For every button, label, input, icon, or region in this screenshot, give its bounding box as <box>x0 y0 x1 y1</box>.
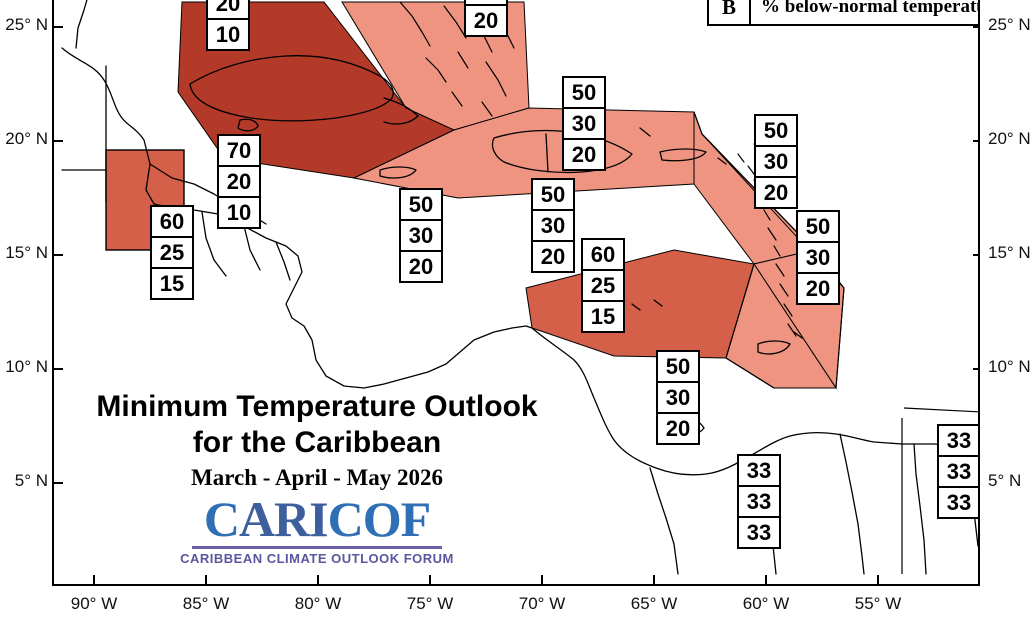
prob-box-suriname-guianas: 33 33 33 <box>937 424 980 519</box>
prob-normal: 20 <box>208 0 248 20</box>
x-tick-label: 80° W <box>295 594 341 614</box>
page-title: Minimum Temperature Outlook <box>82 389 552 425</box>
y-tick-label: 5° N <box>988 471 1021 491</box>
prob-below: 10 <box>208 20 248 49</box>
prob-above: 50 <box>564 78 604 109</box>
prob-above: 50 <box>401 190 441 221</box>
prob-normal: 30 <box>658 383 698 414</box>
prob-below: 10 <box>219 198 259 227</box>
prob-below: 20 <box>756 178 796 207</box>
prob-box-jamaica-cayman: 50 30 20 <box>399 188 443 283</box>
prob-below: 20 <box>798 274 838 303</box>
logo-cof: COF <box>328 491 431 547</box>
climate-outlook-map: 70 20 10 50 30 20 70 20 10 50 30 20 50 3… <box>0 0 1036 630</box>
logo-subtitle: CARIBBEAN CLIMATE OUTLOOK FORUM <box>82 551 552 566</box>
logo-c: C <box>204 491 239 547</box>
prob-below: 15 <box>583 302 623 331</box>
title-block: Minimum Temperature Outlook for the Cari… <box>82 389 552 566</box>
logo-ari: ARI <box>239 491 328 547</box>
prob-above: 33 <box>939 426 979 457</box>
y-tick-label: 10° N <box>988 357 1031 377</box>
y-tick-label: 25° N <box>5 15 48 35</box>
y-tick-label: 15° N <box>5 243 48 263</box>
prob-box-western-cuba-north: 70 20 10 <box>206 0 250 51</box>
prob-box-puerto-rico-leewards: 50 30 20 <box>754 114 798 209</box>
map-plot-area: 70 20 10 50 30 20 70 20 10 50 30 20 50 3… <box>52 0 980 586</box>
prob-box-bahamas: 50 30 20 <box>464 0 508 37</box>
prob-normal: 30 <box>756 147 796 178</box>
prob-box-hispaniola-north: 50 30 20 <box>562 76 606 171</box>
prob-above: 50 <box>798 212 838 243</box>
prob-normal: 30 <box>401 221 441 252</box>
x-tick-label: 85° W <box>183 594 229 614</box>
prob-below: 20 <box>658 414 698 443</box>
prob-normal: 30 <box>798 243 838 274</box>
x-tick-label: 60° W <box>743 594 789 614</box>
prob-below: 20 <box>533 242 573 271</box>
prob-box-cuba: 70 20 10 <box>217 134 261 229</box>
y-tick-label: 25° N <box>988 15 1031 35</box>
x-tick-label: 75° W <box>407 594 453 614</box>
x-tick-label: 65° W <box>631 594 677 614</box>
legend-row-below: B % below-normal temperature <box>709 0 980 24</box>
y-tick-label: 20° N <box>988 129 1031 149</box>
prob-below: 20 <box>466 6 506 35</box>
prob-normal: 30 <box>564 109 604 140</box>
prob-normal: 33 <box>739 487 779 518</box>
prob-below: 33 <box>739 518 779 547</box>
legend: N % normal temperature B % below-normal … <box>707 0 980 26</box>
y-tick-label: 20° N <box>5 129 48 149</box>
forecast-period: March - April - May 2026 <box>82 465 552 491</box>
y-tick-label: 5° N <box>15 471 48 491</box>
prob-above: 50 <box>756 116 796 147</box>
page-title-line2: for the Caribbean <box>82 425 552 461</box>
prob-box-southwest-caribbean: 60 25 15 <box>581 238 625 333</box>
prob-box-hispaniola-south: 50 30 20 <box>531 178 575 273</box>
prob-box-windward-islands: 50 30 20 <box>796 210 840 305</box>
y-tick-label: 15° N <box>988 243 1031 263</box>
prob-above: 33 <box>739 456 779 487</box>
prob-above: 70 <box>219 136 259 167</box>
x-tick-label: 70° W <box>519 594 565 614</box>
prob-normal: 25 <box>152 238 192 269</box>
prob-normal: 30 <box>533 211 573 242</box>
y-axis-labels-left: 25° N 20° N 15° N 10° N 5° N <box>0 0 48 630</box>
legend-label-b: % below-normal temperature <box>751 0 980 24</box>
caricof-logo: CARICOF CARIBBEAN CLIMATE OUTLOOK FORUM <box>82 493 552 566</box>
prob-below: 20 <box>401 252 441 281</box>
x-tick-label: 90° W <box>71 594 117 614</box>
prob-box-trinidad-guyana-west: 33 33 33 <box>737 454 781 549</box>
prob-normal: 20 <box>219 167 259 198</box>
y-tick-label: 10° N <box>5 357 48 377</box>
prob-below: 33 <box>939 488 979 517</box>
prob-above: 50 <box>658 352 698 383</box>
prob-above: 60 <box>583 240 623 271</box>
caricof-logo-text: CARICOF <box>82 493 552 545</box>
prob-below: 15 <box>152 269 192 298</box>
prob-above: 50 <box>533 180 573 211</box>
prob-normal: 33 <box>939 457 979 488</box>
y-axis-labels-right: 25° N 20° N 15° N 10° N 5° N <box>988 0 1036 630</box>
legend-key-b: B <box>709 0 751 24</box>
prob-box-belize-honduras: 60 25 15 <box>150 205 194 300</box>
prob-above: 60 <box>152 207 192 238</box>
prob-box-venezuela-coast: 50 30 20 <box>656 350 700 445</box>
prob-below: 20 <box>564 140 604 169</box>
prob-normal: 25 <box>583 271 623 302</box>
x-tick-label: 55° W <box>855 594 901 614</box>
